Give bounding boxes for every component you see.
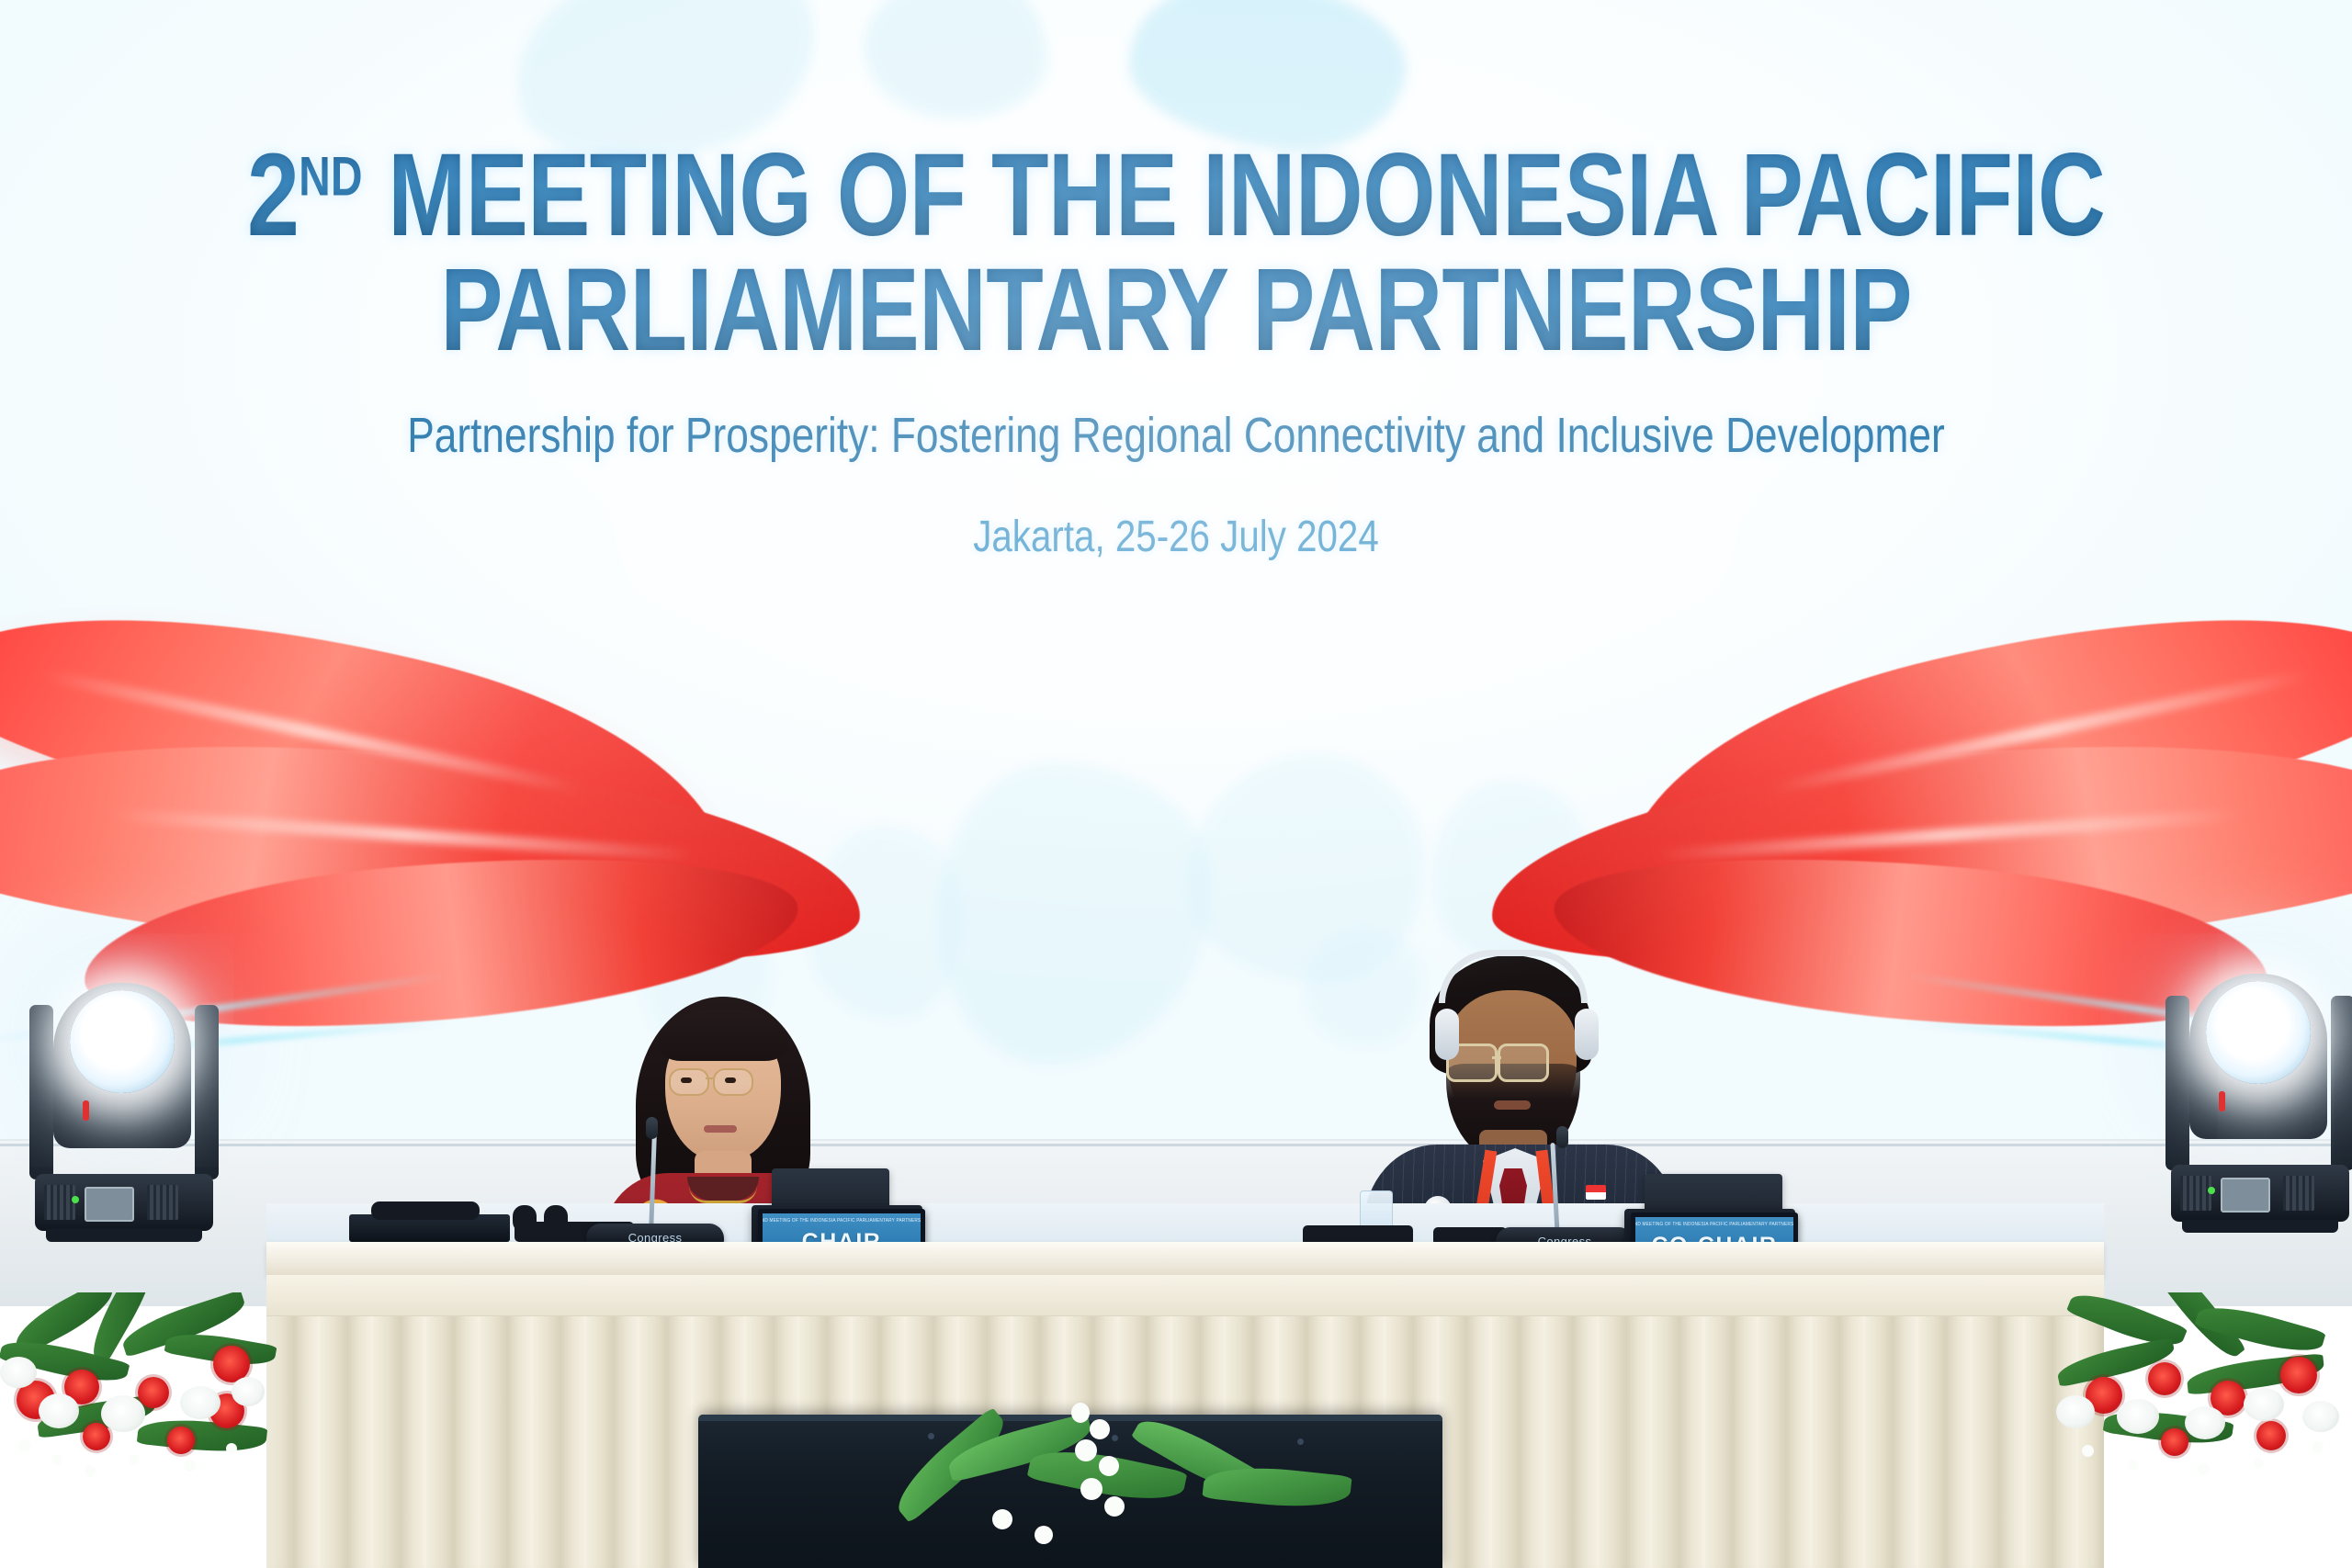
white-blossom	[1080, 1478, 1102, 1500]
spotlight-vent	[2180, 1176, 2211, 1211]
baby-breath	[18, 1439, 31, 1452]
stage-riser-edge	[0, 1144, 2352, 1146]
red-gerbera	[2148, 1362, 2181, 1395]
spotlight-yoke-right-arm	[2331, 996, 2352, 1170]
spotlight-display-panel	[85, 1187, 134, 1222]
ribbon-highlight	[1769, 669, 2311, 795]
nameplate-header: 2ND MEETING OF THE INDONESIA PACIFIC PAR…	[763, 1216, 921, 1225]
red-gerbera	[167, 1427, 195, 1454]
spotlight-head	[2189, 974, 2327, 1139]
stage-backdrop: 2ND MEETING OF THE INDONESIA PACIFIC PAR…	[0, 0, 2352, 1185]
red-gerbera	[2256, 1421, 2286, 1450]
white-chrysanthemum	[101, 1395, 145, 1432]
chair-eye-right	[725, 1077, 736, 1083]
baby-breath	[129, 1454, 140, 1465]
white-chrysanthemum	[2244, 1388, 2284, 1421]
chair-microphone-head	[646, 1117, 658, 1139]
baby-breath	[2128, 1460, 2139, 1471]
spotlight-yoke-left-arm	[2165, 996, 2189, 1170]
moving-head-spotlight-right	[2154, 974, 2352, 1249]
spotlight-lens-icon	[2206, 981, 2311, 1084]
baby-breath	[184, 1460, 196, 1472]
title-ordinal: 2	[247, 130, 299, 261]
co-chair-eyeglasses-right-lens	[1498, 1043, 1549, 1082]
baby-breath	[2198, 1463, 2210, 1475]
white-blossom	[1090, 1419, 1110, 1439]
spotlight-vent	[147, 1185, 178, 1220]
white-blossom	[1071, 1403, 1090, 1423]
red-gerbera	[138, 1377, 169, 1408]
co-chair-mouth	[1494, 1100, 1531, 1110]
red-gerbera	[2161, 1428, 2188, 1456]
white-chrysanthemum	[0, 1357, 37, 1388]
spotlight-power-led	[2208, 1187, 2215, 1194]
chair-eyeglasses-bridge	[706, 1077, 715, 1079]
flower-arrangement-left	[0, 1292, 303, 1568]
chair-mouth	[704, 1125, 737, 1133]
event-title-block: 2ND MEETING OF THE INDONESIA PACIFIC PAR…	[0, 138, 2352, 562]
table-skirt-valance	[266, 1275, 2104, 1316]
white-chrysanthemum	[232, 1377, 265, 1406]
white-chrysanthemum	[2302, 1401, 2339, 1432]
world-map-watermark-shape	[1736, 854, 1847, 1001]
ribbon-band-left-upper	[0, 548, 775, 931]
spotlight-yoke-left-arm	[29, 1005, 53, 1179]
white-blossom	[992, 1509, 1012, 1529]
baby-breath	[2082, 1445, 2094, 1457]
spotlight-head	[53, 983, 191, 1148]
headphones-icon	[1439, 950, 1588, 1003]
event-title-line-1: 2ND MEETING OF THE INDONESIA PACIFIC	[235, 138, 2117, 253]
baby-breath	[51, 1454, 62, 1465]
headphone-earcup-right	[1575, 1009, 1599, 1060]
leaf	[137, 1415, 268, 1457]
world-map-watermark-shape	[1433, 781, 1589, 964]
baby-breath	[2253, 1458, 2264, 1469]
spotlight-feet	[46, 1229, 202, 1242]
white-chrysanthemum	[2117, 1399, 2159, 1434]
conference-photo-stage: 2ND MEETING OF THE INDONESIA PACIFIC PAR…	[0, 0, 2352, 1568]
headphone-earcup-left	[1435, 1009, 1459, 1060]
white-blossom	[1104, 1496, 1125, 1517]
spotlight-indicator	[83, 1100, 89, 1121]
chair-eye-left	[681, 1077, 692, 1083]
nameplate-header: 2ND MEETING OF THE INDONESIA PACIFIC PAR…	[1635, 1220, 1793, 1229]
white-chrysanthemum	[39, 1393, 79, 1428]
world-map-watermark-shape	[1617, 808, 1755, 946]
nameplate-event-text: 2ND MEETING OF THE INDONESIA PACIFIC PAR…	[1632, 1222, 1798, 1227]
chair-necklace	[689, 1186, 757, 1203]
spotlight-yoke-right-arm	[195, 1005, 219, 1179]
co-chair-flag-pin	[1586, 1185, 1606, 1200]
world-map-watermark-shape	[808, 827, 965, 1020]
equipment-pod-b	[544, 1205, 568, 1233]
white-blossom	[1075, 1439, 1097, 1461]
white-chrysanthemum	[2056, 1395, 2095, 1428]
flower-arrangement-right	[2049, 1292, 2352, 1568]
world-map-watermark-shape	[937, 762, 1213, 1066]
conference-table-top	[266, 1242, 2104, 1277]
title-line-1-text: MEETING OF THE INDONESIA PACIFIC	[388, 130, 2105, 261]
co-chair-microphone-head	[1556, 1126, 1568, 1148]
equipment-pod-a	[513, 1205, 537, 1233]
nameplate-event-text: 2ND MEETING OF THE INDONESIA PACIFIC PAR…	[759, 1218, 925, 1224]
ribbon-highlight	[41, 669, 583, 795]
baby-breath	[226, 1443, 237, 1454]
spotlight-lens-icon	[70, 990, 175, 1093]
event-title-line-2: PARLIAMENTARY PARTNERSHIP	[235, 253, 2117, 367]
white-blossom	[1099, 1456, 1119, 1476]
foreground-plant	[854, 1403, 1369, 1568]
spotlight-power-led	[72, 1196, 79, 1203]
event-date-location: Jakarta, 25-26 July 2024	[188, 512, 2164, 562]
moving-head-spotlight-left	[18, 983, 230, 1258]
co-chair-eyeglasses-bridge	[1492, 1056, 1501, 1059]
white-chrysanthemum	[180, 1386, 220, 1419]
equipment-module-left	[371, 1201, 480, 1220]
white-chrysanthemum	[2185, 1406, 2225, 1439]
red-gerbera	[2280, 1357, 2317, 1393]
spotlight-feet	[2182, 1220, 2338, 1233]
spotlight-indicator	[2219, 1091, 2225, 1111]
baby-breath	[85, 1465, 96, 1477]
ribbon-highlight	[110, 808, 697, 863]
white-blossom	[1035, 1526, 1053, 1544]
ribbon-band-right-middle	[1482, 711, 2352, 993]
world-map-watermark-shape	[864, 0, 1047, 119]
spotlight-vent	[2283, 1176, 2314, 1211]
title-ordinal-suffix: ND	[299, 145, 362, 207]
red-gerbera	[83, 1423, 110, 1450]
event-subtitle: Partnership for Prosperity: Fostering Re…	[211, 407, 2140, 464]
baby-breath	[2312, 1441, 2324, 1453]
spotlight-display-panel	[2221, 1178, 2270, 1213]
spotlight-vent	[44, 1185, 75, 1220]
